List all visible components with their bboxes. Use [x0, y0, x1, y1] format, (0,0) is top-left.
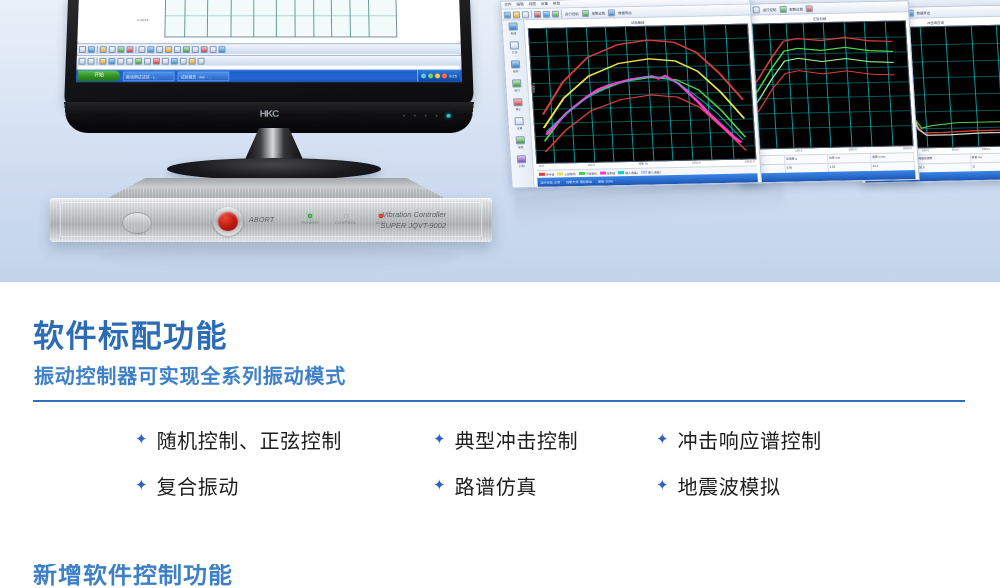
toolbar-icon[interactable]: [210, 46, 217, 53]
shot1-y-axis-label: 加速度 g: [531, 83, 536, 93]
taskbar-window-button[interactable]: 试验报告 .doc - ...: [177, 71, 229, 81]
feature-item-earthquake: ✦ 地震波模拟: [656, 471, 781, 500]
shot1-curves: [529, 25, 756, 163]
toolbar-icon[interactable]: [522, 11, 529, 18]
toolbar-icon[interactable]: [219, 46, 226, 53]
toolbar-icon[interactable]: [180, 57, 187, 64]
toolbar-icon[interactable]: [543, 10, 550, 17]
screen-toolbar-1[interactable]: [77, 43, 461, 54]
menu-item-view[interactable]: 视图: [529, 2, 537, 7]
toolbar-icon[interactable]: [171, 57, 178, 64]
toolbar-icon[interactable]: [198, 57, 205, 64]
toolbar-button-label[interactable]: 数据导出: [617, 10, 633, 15]
play-icon: [512, 79, 522, 87]
power-led-group: POWER: [302, 214, 319, 225]
toolbar-icon[interactable]: [126, 46, 133, 53]
feature-row-1: ✦ 随机控制、正弦控制 ✦ 典型冲击控制 ✦ 冲击响应谱控制: [0, 425, 1000, 471]
menu-item-edit[interactable]: 编辑: [516, 2, 524, 7]
taskbar-window-button[interactable]: 振动测试试验 - (...: [123, 71, 175, 81]
control-led: [344, 214, 348, 218]
sparkle-bullet-icon: ✦: [433, 478, 446, 493]
monitor-power-led[interactable]: [446, 114, 450, 118]
control-led-label: CONTROL: [335, 220, 357, 225]
sidebar-item-label: 打印: [511, 164, 532, 168]
tray-icon[interactable]: [428, 73, 433, 78]
next-section-title: 新增软件控制功能: [33, 564, 233, 588]
toolbar-icon[interactable]: [752, 6, 759, 13]
sidebar-item-settings[interactable]: 设置: [508, 117, 530, 130]
legend-swatch: [579, 172, 585, 175]
status-text: 运行状态: 正常: [540, 180, 560, 184]
sidebar-item-label: 报表: [510, 145, 531, 149]
legend-label: 下报警线: [586, 171, 597, 175]
feature-label: 随机控制、正弦控制: [157, 425, 342, 454]
page-subtitle: 振动控制器可实现全系列振动模式: [34, 367, 346, 387]
feature-label: 地震波模拟: [678, 471, 781, 500]
software-screenshot-stack: 下一步 运行控制 数据导出 冲击响应谱: [498, 0, 1000, 222]
monitor-button-row[interactable]: [403, 114, 451, 118]
sidebar-item-save[interactable]: 保存: [505, 60, 527, 73]
sidebar-item-label: 设置: [509, 126, 530, 130]
toolbar-icon[interactable]: [608, 9, 615, 16]
monitor-menu-button[interactable]: [403, 115, 405, 117]
legend-item[interactable]: 参考谱: [539, 172, 555, 176]
shot1-canvas: 试验曲线: [524, 16, 761, 187]
controller-chassis: POWER ABORT POWER CONTROL ACQ: [46, 178, 496, 244]
feature-label: 复合振动: [157, 471, 239, 500]
screen-y-tick-2: 0.0005: [137, 18, 149, 22]
toolbar-icon[interactable]: [162, 57, 169, 64]
legend-label: 控制谱: [607, 171, 616, 175]
toolbar-icon[interactable]: [100, 46, 107, 53]
sidebar-item-label: 打开: [504, 50, 525, 54]
toolbar-icon[interactable]: [534, 10, 541, 17]
tray-icon[interactable]: [435, 73, 440, 78]
screen-plot: [164, 0, 397, 37]
toolbar-icon[interactable]: [147, 46, 154, 53]
abort-button-label: ABORT: [249, 217, 275, 224]
monitor-plus-button[interactable]: [425, 115, 427, 117]
chassis-reflection: [98, 244, 458, 270]
sidebar-item-stop[interactable]: 停止: [507, 98, 529, 111]
feature-item-random-sine: ✦ 随机控制、正弦控制: [135, 425, 342, 454]
toolbar-icon[interactable]: [552, 10, 559, 17]
toolbar-icon[interactable]: [581, 9, 588, 16]
legend-label: 输入通道1: [625, 170, 638, 174]
sidebar-item-label: 运行: [507, 88, 528, 92]
product-model-text: SUPER JQVT-9002: [380, 221, 446, 232]
system-tray[interactable]: 9:25: [417, 71, 460, 82]
shot2-curves: [735, 21, 913, 148]
toolbar-icon[interactable]: [135, 57, 142, 64]
control-led-group: CONTROL: [335, 214, 357, 225]
power-led: [308, 214, 312, 218]
screen-taskbar[interactable]: 开始 振动测试试验 - (... 试验报告 .doc - ... 9:25: [76, 70, 462, 83]
legend-item[interactable]: 下报警线: [579, 171, 597, 175]
menu-item-setup[interactable]: 设置: [541, 2, 549, 7]
tray-icon[interactable]: [442, 73, 447, 78]
power-knob-caption: POWER: [116, 232, 162, 236]
toolbar-icon[interactable]: [192, 46, 199, 53]
legend-item[interactable]: 输入通道1: [618, 170, 638, 174]
toolbar-button-label[interactable]: 报警设置: [590, 10, 606, 15]
toolbar-button-label[interactable]: 运行控制: [762, 7, 778, 12]
sidebar-item-label: 停止: [508, 107, 529, 111]
sparkle-bullet-icon: ✦: [135, 432, 148, 447]
toolbar-icon[interactable]: [144, 57, 151, 64]
toolbar-icon[interactable]: [88, 46, 95, 53]
sparkle-bullet-icon: ✦: [656, 478, 669, 493]
toolbar-icon[interactable]: [189, 57, 196, 64]
feature-label: 路谱仿真: [455, 471, 537, 500]
save-icon: [511, 60, 521, 68]
toolbar-icon[interactable]: [779, 5, 786, 12]
toolbar-separator: [96, 57, 97, 64]
power-led-label: POWER: [302, 220, 319, 225]
monitor-screen: 0.0010 0.0005: [76, 0, 462, 82]
status-text: 量级: 100%: [598, 179, 614, 183]
toolbar-icon[interactable]: [79, 57, 86, 64]
feature-label: 典型冲击控制: [455, 425, 579, 454]
new-icon: [508, 22, 518, 30]
toolbar-icon[interactable]: [201, 46, 208, 53]
menu-item-file[interactable]: 文件: [504, 3, 512, 8]
screen-chart-area: 0.0010 0.0005: [77, 0, 460, 41]
legend-item[interactable]: 输入通道2: [641, 170, 661, 174]
toolbar-icon[interactable]: [153, 57, 160, 64]
tray-icon[interactable]: [421, 73, 426, 78]
stop-icon: [513, 98, 523, 106]
legend-label: 参考谱: [546, 172, 555, 176]
toolbar-icon[interactable]: [108, 57, 115, 64]
monitor-stand-base: [167, 158, 381, 180]
folder-icon: [510, 41, 520, 49]
monitor-bezel: 0.0010 0.0005: [64, 0, 474, 108]
page-title: 软件标配功能: [33, 321, 228, 352]
feature-item-srs: ✦ 冲击响应谱控制: [656, 425, 822, 454]
model-nameplate: Vibration Controller SUPER JQVT-9002: [380, 210, 446, 232]
sidebar-item-report[interactable]: 报表: [510, 136, 532, 149]
toolbar-icon[interactable]: [174, 46, 181, 53]
report-icon: [516, 136, 526, 144]
start-button[interactable]: 开始: [78, 71, 120, 82]
sparkle-bullet-icon: ✦: [135, 478, 148, 493]
feature-item-road-simulation: ✦ 路谱仿真: [433, 471, 537, 500]
status-text: 控制方式: 随机振动: [566, 179, 592, 184]
legend-swatch: [641, 171, 647, 174]
power-knob[interactable]: [122, 212, 152, 234]
monitor-minus-button[interactable]: [414, 115, 416, 117]
tray-clock: 9:25: [449, 73, 457, 78]
sidebar-item-label: 保存: [505, 69, 526, 73]
menu-item-help[interactable]: 帮助: [553, 2, 561, 7]
toolbar-icon[interactable]: [117, 57, 124, 64]
feature-row-2: ✦ 复合振动 ✦ 路谱仿真 ✦ 地震波模拟: [0, 471, 1000, 517]
chassis-top-surface: [104, 178, 448, 200]
toolbar-icon[interactable]: [165, 46, 172, 53]
legend-swatch: [618, 171, 624, 174]
toolbar-separator: [135, 46, 136, 53]
legend-swatch: [539, 173, 545, 176]
legend-item[interactable]: 上报警线: [557, 172, 575, 176]
toolbar-separator: [97, 46, 98, 53]
toolbar-icon[interactable]: [118, 46, 125, 53]
toolbar-separator: [531, 10, 533, 18]
sidebar-item-run[interactable]: 运行: [506, 79, 528, 92]
sidebar-item-open[interactable]: 打开: [504, 41, 526, 54]
legend-label: 输入通道2: [648, 170, 661, 174]
legend-swatch: [557, 172, 563, 175]
product-type-text: Vibration Controller: [380, 210, 446, 221]
toolbar-button-label[interactable]: 数据导出: [915, 10, 931, 15]
printer-icon: [517, 155, 527, 163]
section-divider: [33, 400, 965, 402]
toolbar-icon[interactable]: [156, 46, 163, 53]
legend-item[interactable]: 控制谱: [600, 171, 616, 175]
toolbar-separator: [561, 10, 563, 18]
legend-swatch: [600, 171, 606, 174]
toolbar-icon[interactable]: [126, 57, 133, 64]
feature-item-classical-shock: ✦ 典型冲击控制: [433, 425, 578, 454]
feature-label: 冲击响应谱控制: [678, 425, 822, 454]
monitor-brand-logo: HKC: [260, 109, 279, 119]
shot2-plot[interactable]: [734, 20, 914, 149]
toolbar-icon[interactable]: [109, 46, 116, 53]
legend-label: 上报警线: [564, 172, 575, 176]
toolbar-icon[interactable]: [79, 46, 86, 53]
software-window-test-curve[interactable]: 文件 编辑 视图 设置 帮助 运行控制 报警设置 数据导出: [500, 0, 762, 188]
toolbar-icon[interactable]: [806, 5, 813, 12]
feature-item-mixed-mode: ✦ 复合振动: [135, 471, 239, 500]
abort-button[interactable]: [213, 207, 243, 236]
monitor-auto-button[interactable]: [436, 115, 438, 117]
sparkle-bullet-icon: ✦: [433, 432, 446, 447]
shot1-body: 新建 打开 保存 运行: [502, 16, 761, 188]
abort-button-cap[interactable]: [218, 212, 238, 231]
chassis-front-panel: POWER ABORT POWER CONTROL ACQ: [50, 198, 492, 242]
toolbar-icon[interactable]: [99, 57, 106, 64]
sidebar-item-new[interactable]: 新建: [502, 22, 524, 35]
sidebar-item-print[interactable]: 打印: [511, 155, 533, 168]
toolbar-button-label[interactable]: 运行控制: [564, 11, 580, 16]
sparkle-bullet-icon: ✦: [656, 432, 669, 447]
toolbar-icon[interactable]: [183, 46, 190, 53]
toolbar-icon[interactable]: [513, 11, 520, 18]
feature-list: ✦ 随机控制、正弦控制 ✦ 典型冲击控制 ✦ 冲击响应谱控制 ✦ 复合振动 ✦ …: [0, 425, 1000, 517]
toolbar-button-label[interactable]: 报警设置: [788, 6, 804, 11]
shot1-plot[interactable]: 加速度 g: [528, 24, 757, 164]
screen-toolbar-2[interactable]: [76, 55, 461, 66]
monitor-and-controller-photo: 0.0010 0.0005: [48, 0, 500, 254]
toolbar-icon[interactable]: [138, 46, 145, 53]
hero-banner: 0.0010 0.0005: [0, 0, 1000, 282]
sidebar-item-label: 新建: [503, 31, 524, 35]
toolbar-icon[interactable]: [504, 11, 511, 18]
content-section: 软件标配功能 振动控制器可实现全系列振动模式 ✦ 随机控制、正弦控制 ✦ 典型冲…: [0, 282, 1000, 586]
toolbar-icon[interactable]: [87, 57, 94, 64]
gear-icon: [514, 117, 524, 125]
